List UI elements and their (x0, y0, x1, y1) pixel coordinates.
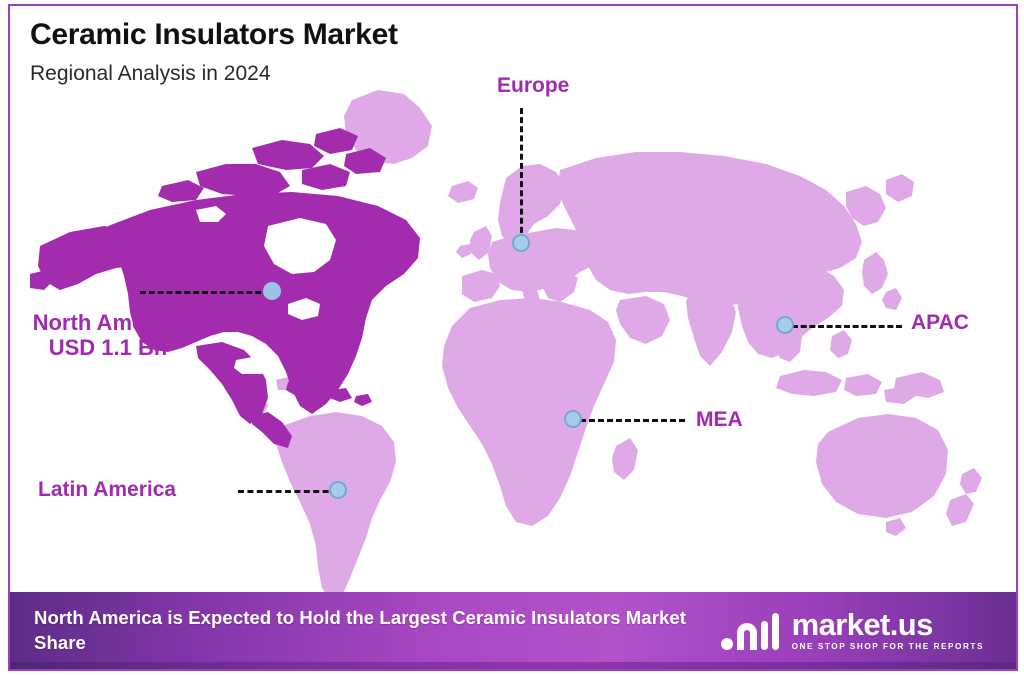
region-name-mea: MEA (696, 408, 743, 432)
region-name-europe: Europe (497, 74, 569, 98)
region-label-north-america: North America USD 1.1 Bn (18, 310, 198, 361)
logo-wordmark: market.us (792, 610, 933, 639)
header: Ceramic Insulators Market Regional Analy… (30, 18, 398, 85)
region-name-north-america: North America (18, 310, 198, 335)
leader-line-apac (792, 325, 902, 328)
footer-callout-text: North America is Expected to Hold the La… (34, 606, 714, 656)
market-us-logo[interactable]: market.us ONE STOP SHOP FOR THE REPORTS (720, 609, 998, 653)
region-label-mea: MEA (696, 408, 743, 432)
marker-apac[interactable] (776, 316, 794, 334)
region-name-latin-america: Latin America (38, 478, 176, 502)
marker-mea[interactable] (564, 410, 582, 428)
footer-bottom-strip (10, 662, 1016, 669)
page-title: Ceramic Insulators Market (30, 18, 398, 51)
page-subtitle: Regional Analysis in 2024 (30, 62, 398, 85)
leader-line-mea (580, 419, 685, 422)
logo-text: market.us ONE STOP SHOP FOR THE REPORTS (792, 610, 984, 651)
infographic-root: Ceramic Insulators Market Regional Analy… (0, 0, 1024, 675)
region-label-apac: APAC (911, 311, 969, 335)
region-label-latin-america: Latin America (38, 478, 176, 502)
region-name-apac: APAC (911, 311, 969, 335)
logo-tagline: ONE STOP SHOP FOR THE REPORTS (792, 642, 984, 651)
leader-line-europe (520, 108, 523, 242)
region-value-north-america: USD 1.1 Bn (18, 335, 198, 360)
footer-banner: North America is Expected to Hold the La… (10, 592, 1016, 669)
marker-europe[interactable] (512, 234, 530, 252)
marker-latin-america[interactable] (329, 481, 347, 499)
marker-north-america[interactable] (263, 282, 281, 300)
logo-bars-icon (720, 609, 782, 653)
region-label-europe: Europe (497, 74, 569, 98)
leader-line-north-america (140, 291, 270, 294)
leader-line-latin-america (238, 490, 338, 493)
